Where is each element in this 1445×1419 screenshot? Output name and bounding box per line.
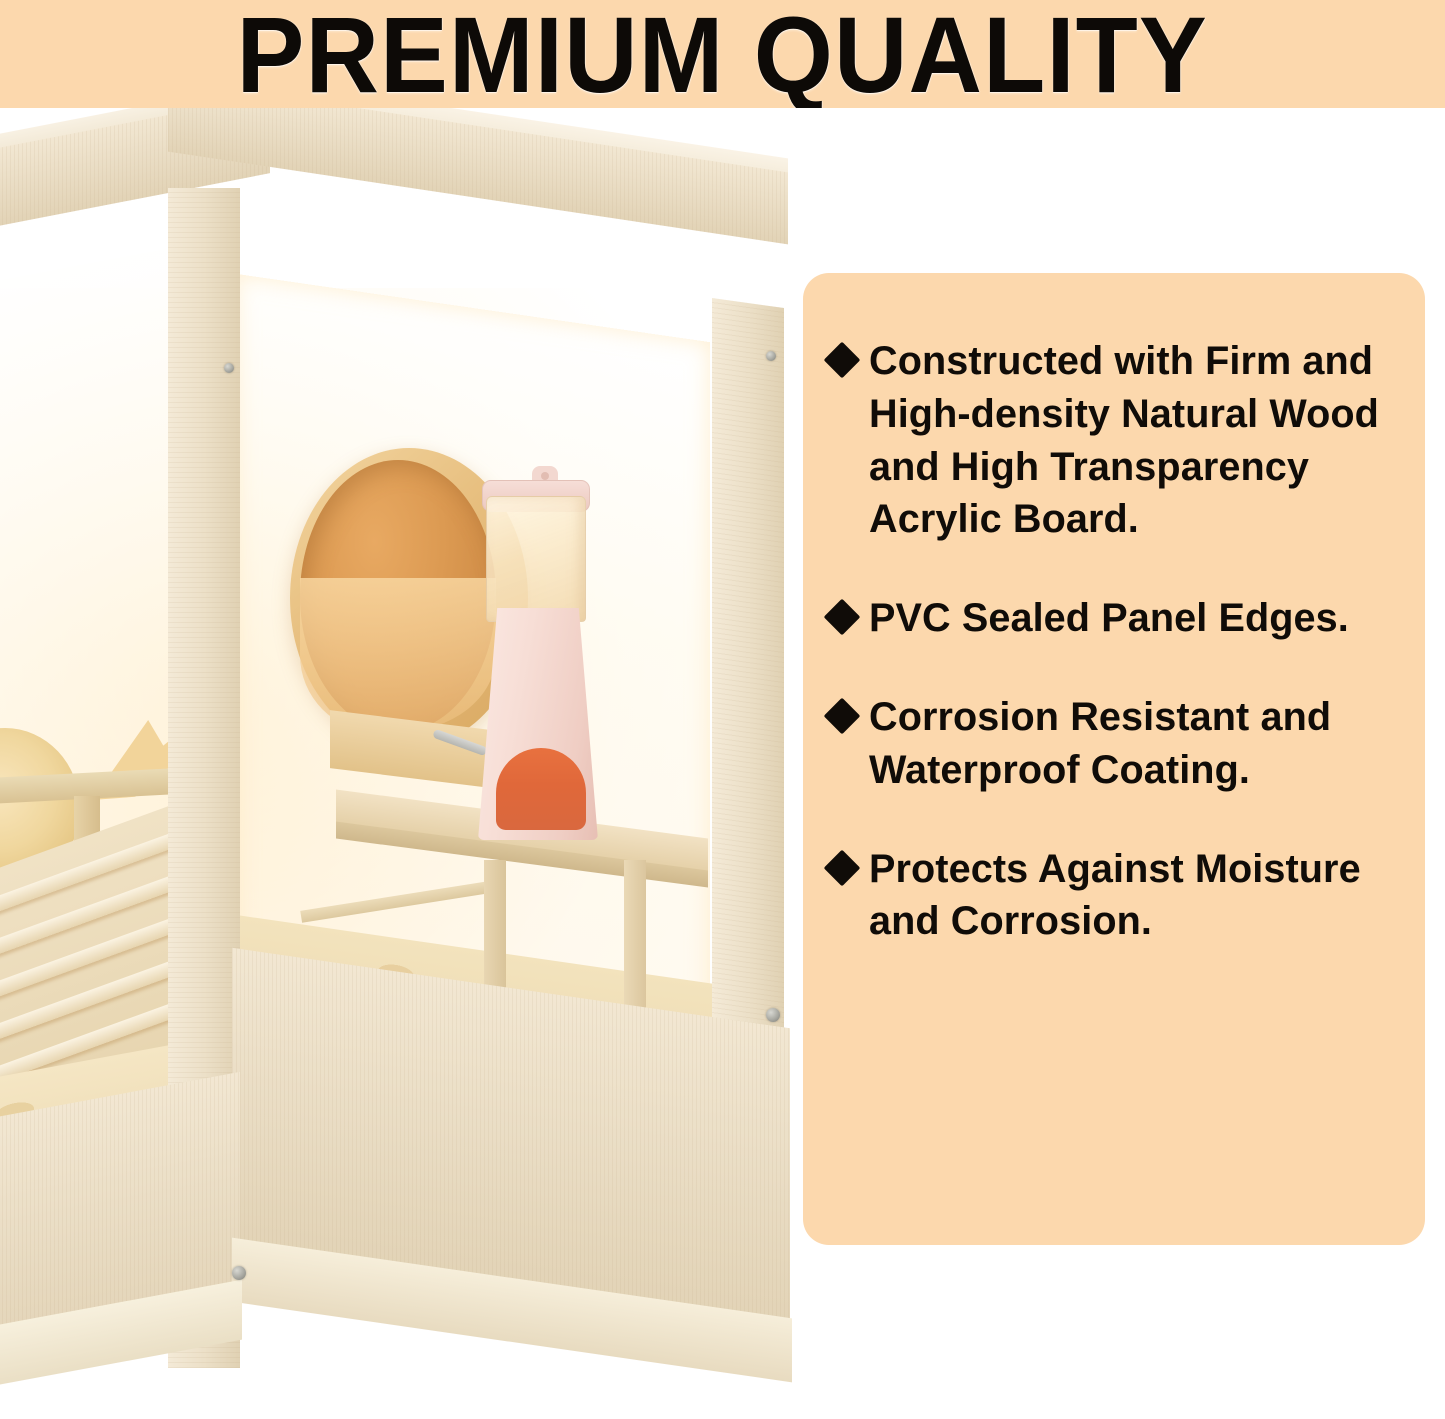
- feature-list: Constructed with Firm and High-density N…: [829, 335, 1391, 948]
- metal-screw: [224, 363, 234, 373]
- diamond-bullet-icon: [824, 849, 861, 886]
- feature-item-3: Corrosion Resistant and Waterproof Coati…: [829, 691, 1391, 797]
- metal-screw: [766, 351, 776, 361]
- feature-item-4: Protects Against Moisture and Corrosion.: [829, 843, 1391, 949]
- cage-post-right: [712, 298, 784, 1098]
- feature-text-1: Constructed with Firm and High-density N…: [869, 335, 1386, 546]
- cage-top-rail-front: [168, 108, 788, 244]
- metal-screw: [232, 1266, 246, 1280]
- water-bottle-reservoir: [486, 496, 586, 622]
- water-bottle-opening: [496, 748, 586, 830]
- feature-item-2: PVC Sealed Panel Edges.: [829, 592, 1391, 645]
- diamond-bullet-icon: [824, 342, 861, 379]
- product-photo: [0, 108, 800, 1419]
- page-title: PREMIUM QUALITY: [237, 2, 1208, 108]
- feature-text-3: Corrosion Resistant and Waterproof Coati…: [869, 691, 1386, 797]
- hamster-cage-illustration: [0, 108, 800, 1419]
- diamond-bullet-icon: [824, 698, 861, 735]
- diamond-bullet-icon: [824, 599, 861, 636]
- metal-screw: [766, 1008, 780, 1022]
- feature-panel: Constructed with Firm and High-density N…: [803, 273, 1425, 1245]
- feature-text-2: PVC Sealed Panel Edges.: [869, 592, 1349, 645]
- feature-text-4: Protects Against Moisture and Corrosion.: [869, 843, 1386, 949]
- header-banner: PREMIUM QUALITY: [0, 0, 1445, 108]
- feature-item-1: Constructed with Firm and High-density N…: [829, 335, 1391, 546]
- exercise-wheel-shadow: [300, 578, 496, 732]
